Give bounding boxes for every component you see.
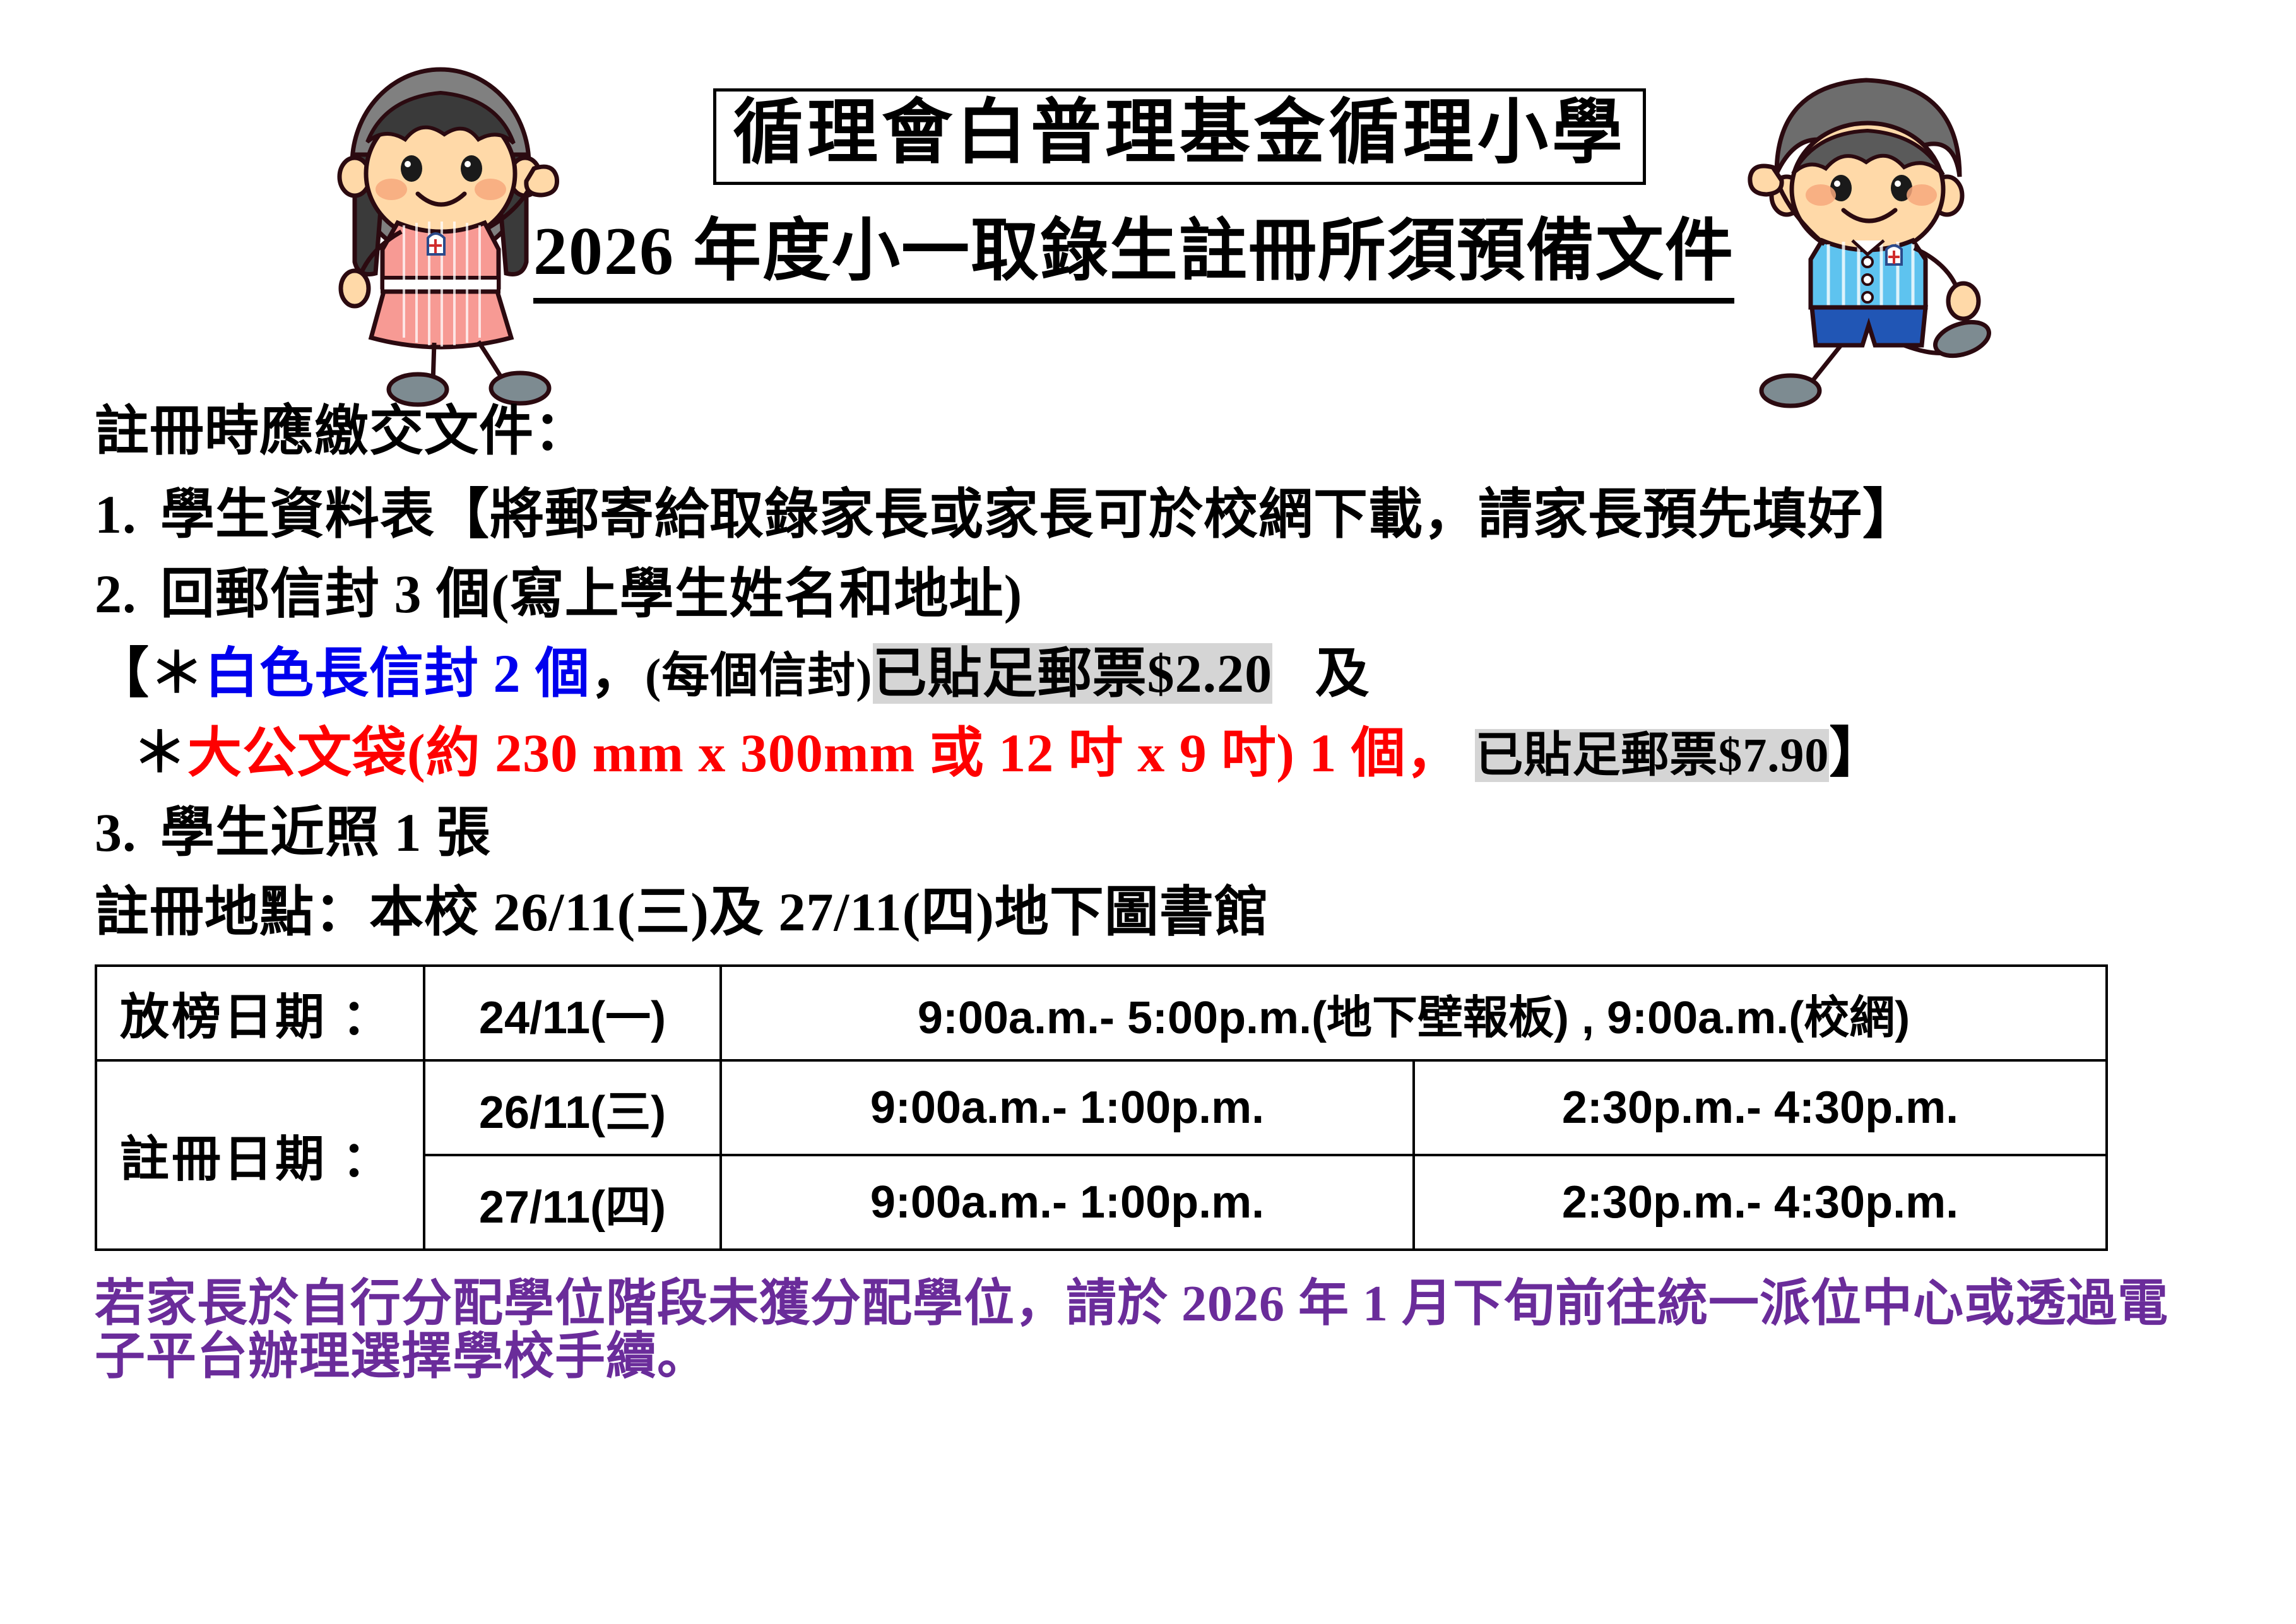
footer-note: 若家長於自行分配學位階段未獲分配學位，請於 2026 年 1 月下旬前往統一派位…: [95, 1277, 2196, 1384]
list-item-3-number: 3.: [95, 805, 160, 860]
announcement-date-value: 24/11(一): [424, 966, 721, 1060]
document-title: 2026 年度小一取錄生註冊所須預備文件: [533, 196, 1734, 304]
document-header: 循理會白普理基金循理小學 2026 年度小一取錄生註冊所須預備文件: [0, 0, 2296, 410]
registration-time-pm-2: 2:30p.m.- 4:30p.m.: [1414, 1155, 2107, 1250]
table-row-announcement: 放榜日期 ： 24/11(一) 9:00a.m.- 5:00p.m.(地下壁報板…: [96, 966, 2107, 1060]
registration-time-am-2: 9:00a.m.- 1:00p.m.: [721, 1155, 1414, 1250]
postage-790-highlight: 已貼足郵票$7.90: [1475, 729, 1829, 782]
list-item-2: 2.回郵信封 3 個(寫上學生姓名和地址): [95, 567, 2201, 621]
per-envelope-note: (每個信封): [645, 649, 873, 702]
list-item-1-text: 學生資料表【將郵寄給取錄家長或家長可於校網下載，請家長預先填好】: [160, 484, 1917, 545]
envelope-requirement-line: 【＊白色長信封 2 個，(每個信封)已貼足郵票$2.20 及: [95, 646, 2201, 701]
registration-date-2: 27/11(四): [424, 1155, 721, 1250]
list-item-3-text: 學生近照 1 張: [160, 802, 491, 863]
asterisk-marker-2: ＊: [133, 723, 187, 783]
venue-line: 註冊地點：本校 26/11(三)及 27/11(四)地下圖書館: [95, 885, 2201, 939]
announcement-time-value: 9:00a.m.- 5:00p.m.(地下壁報板) , 9:00a.m.(校網): [721, 966, 2107, 1060]
large-folder-text: 大公文袋(約 230 mm x 300mm 或 12 吋 x 9 吋) 1 個，: [187, 723, 1461, 783]
close-bracket: 】: [1829, 723, 1884, 783]
open-bracket: 【: [95, 643, 150, 704]
list-item-3: 3.學生近照 1 張: [95, 805, 2201, 860]
intro-line: 註冊時應繳交文件：: [95, 404, 2201, 458]
postage-220-highlight: 已貼足郵票$2.20: [873, 643, 1273, 704]
registration-time-pm-1: 2:30p.m.- 4:30p.m.: [1414, 1060, 2107, 1155]
schedule-table-wrapper: 放榜日期 ： 24/11(一) 9:00a.m.- 5:00p.m.(地下壁報板…: [95, 964, 2201, 1251]
envelope-comma: ，: [590, 643, 645, 704]
table-row-registration-1: 註冊日期 ： 26/11(三) 9:00a.m.- 1:00p.m. 2:30p…: [96, 1060, 2107, 1155]
list-item-1-number: 1.: [95, 487, 160, 542]
schedule-table: 放榜日期 ： 24/11(一) 9:00a.m.- 5:00p.m.(地下壁報板…: [95, 964, 2108, 1251]
announcement-date-label: 放榜日期 ：: [96, 966, 424, 1060]
folder-requirement-line: ＊大公文袋(約 230 mm x 300mm 或 12 吋 x 9 吋) 1 個…: [95, 726, 2201, 780]
list-item-2-text: 回郵信封 3 個(寫上學生姓名和地址): [160, 564, 1022, 624]
registration-date-1: 26/11(三): [424, 1060, 721, 1155]
registration-date-label: 註冊日期 ：: [96, 1060, 424, 1250]
and-conjunction: 及: [1315, 643, 1370, 704]
registration-time-am-1: 9:00a.m.- 1:00p.m.: [721, 1060, 1414, 1155]
school-name-title: 循理會白普理基金循理小學: [713, 88, 1646, 185]
list-item-2-number: 2.: [95, 567, 160, 621]
document-body: 註冊時應繳交文件： 1.學生資料表【將郵寄給取錄家長或家長可於校網下載，請家長預…: [0, 404, 2296, 1384]
asterisk-marker-1: ＊: [150, 643, 204, 704]
schoolboy-cartoon-icon: [1732, 60, 1997, 417]
list-item-1: 1.學生資料表【將郵寄給取錄家長或家長可於校網下載，請家長預先填好】: [95, 487, 2201, 542]
white-envelope-text: 白色長信封 2 個: [204, 643, 590, 704]
